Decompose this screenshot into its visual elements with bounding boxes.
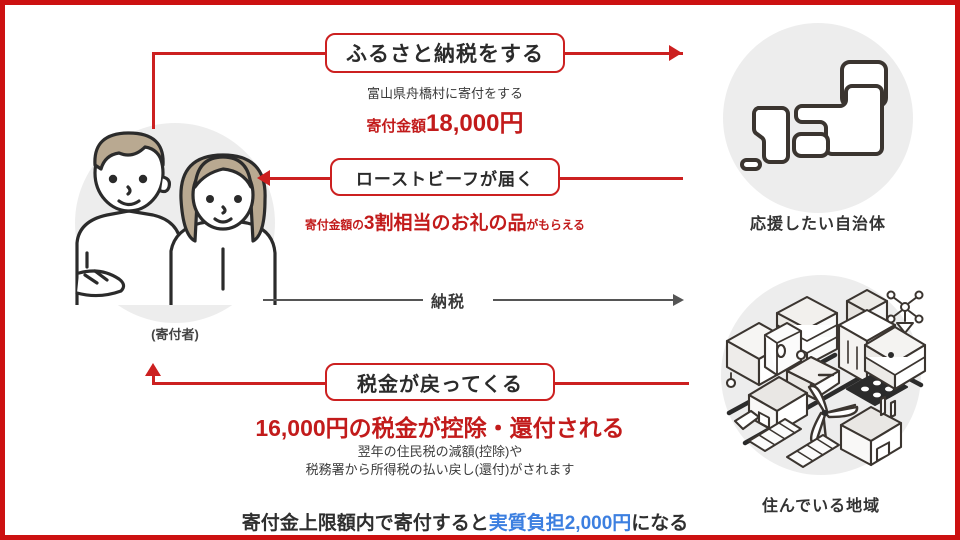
step-refund-headline-rest: の税金が控除・還付される bbox=[349, 415, 625, 441]
step-refund-amount: 16,000円 bbox=[255, 415, 348, 441]
couple-illustration-icon bbox=[67, 125, 287, 305]
step-refund-arrowhead-up bbox=[145, 363, 161, 376]
step-donate-arrowhead-right bbox=[669, 45, 682, 61]
step-gift-red-suffix: がもらえる bbox=[526, 219, 584, 232]
region-map-shape-icon bbox=[740, 40, 900, 190]
step-gift-connector-right bbox=[558, 177, 683, 180]
step-tax-arrowhead-right bbox=[673, 294, 684, 306]
step-gift-label-text: ローストビーフが届く bbox=[356, 165, 534, 190]
step-donate-sub-text: 富山県舟橋村に寄付をする bbox=[245, 85, 645, 104]
step-donate-amount: 寄付金額18,000円 bbox=[245, 103, 645, 138]
step-gift-red-prefix: 寄付金額の bbox=[305, 219, 364, 232]
step-refund-note-line2: 税務署から所得税の払い戻し(還付)がされます bbox=[220, 461, 660, 480]
step-gift-connector-left bbox=[269, 177, 333, 180]
step-refund-connector-left bbox=[152, 382, 330, 385]
home-region-caption: 住んでいる地域 bbox=[721, 492, 921, 516]
footer-highlight: 実質負担2,000円 bbox=[489, 513, 632, 534]
footer-lead: 寄付金上限額内で寄付すると bbox=[242, 513, 489, 534]
footer-summary: 寄付金上限額内で寄付すると実質負担2,000円になる bbox=[185, 508, 745, 535]
step-gift-red-text: 寄付金額の3割相当のお礼の品がもらえる bbox=[245, 208, 645, 235]
municipality-caption: 応援したい自治体 bbox=[723, 210, 913, 234]
step-tax-connector-right bbox=[493, 299, 675, 301]
step-refund-connector-right bbox=[553, 382, 689, 385]
step-gift-red-strong: 3割相当のお礼の品 bbox=[364, 213, 527, 234]
footer-tail: になる bbox=[631, 513, 688, 534]
step-donate-connector-left bbox=[152, 52, 328, 55]
step-refund-label-box[interactable]: 税金が戻ってくる bbox=[325, 363, 555, 401]
step-gift-label-box[interactable]: ローストビーフが届く bbox=[330, 158, 560, 196]
step-donate-amount-value: 18,000円 bbox=[426, 110, 523, 137]
step-donate-connector-right bbox=[563, 52, 683, 55]
step-donate-label-text: ふるさと納税をする bbox=[346, 38, 544, 68]
step-donate-label-box[interactable]: ふるさと納税をする bbox=[325, 33, 565, 73]
step-refund-headline: 16,000円の税金が控除・還付される bbox=[220, 409, 660, 443]
step-tax-connector-left bbox=[263, 299, 423, 301]
step-tax-label: 納税 bbox=[423, 288, 473, 312]
isometric-town-illustration-icon bbox=[715, 263, 935, 478]
step-gift-arrowhead-left bbox=[257, 170, 270, 186]
infographic-canvas: あなた (寄付者) 応援したい自治体 bbox=[0, 0, 960, 540]
step-donate-amount-prefix: 寄付金額 bbox=[367, 119, 427, 135]
step-refund-label-text: 税金が戻ってくる bbox=[357, 368, 523, 397]
step-donate-connector-vertical bbox=[152, 52, 155, 129]
step-refund-note-line1: 翌年の住民税の減額(控除)や bbox=[220, 443, 660, 462]
donor-caption-sub: (寄付者) bbox=[65, 324, 285, 343]
